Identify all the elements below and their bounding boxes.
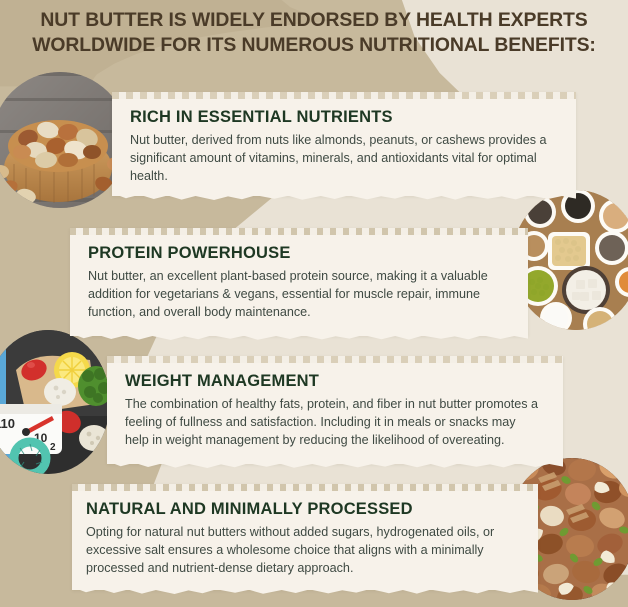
- page-title: NUT BUTTER IS WIDELY ENDORSED BY HEALTH …: [10, 8, 618, 58]
- page-header: NUT BUTTER IS WIDELY ENDORSED BY HEALTH …: [0, 8, 628, 58]
- card-description: The combination of healthy fats, protein…: [125, 396, 541, 450]
- card-content: NATURAL AND MINIMALLY PROCESSED Opting f…: [72, 484, 538, 592]
- card-description: Opting for natural nut butters without a…: [86, 524, 516, 578]
- bowls-of-legumes-and-seeds-photo: [512, 190, 628, 330]
- card-title: RICH IN ESSENTIAL NUTRIENTS: [130, 108, 554, 126]
- card-description: Nut butter, an excellent plant-based pro…: [88, 268, 506, 322]
- card-title: WEIGHT MANAGEMENT: [125, 372, 541, 390]
- benefit-card-weight-management: WEIGHT MANAGEMENT The combination of hea…: [107, 356, 563, 464]
- card-content: RICH IN ESSENTIAL NUTRIENTS Nut butter, …: [112, 92, 576, 200]
- bowls-of-legumes-and-seeds-image: [512, 190, 628, 330]
- svg-text:2: 2: [50, 442, 56, 453]
- benefit-card-rich-in-essential-nutrients: RICH IN ESSENTIAL NUTRIENTS Nut butter, …: [112, 92, 576, 196]
- benefit-card-protein-powerhouse: PROTEIN POWERHOUSE Nut butter, an excell…: [70, 228, 528, 336]
- benefit-card-natural-and-minimally-processed: NATURAL AND MINIMALLY PROCESSED Opting f…: [72, 484, 538, 590]
- card-title: NATURAL AND MINIMALLY PROCESSED: [86, 500, 516, 518]
- card-description: Nut butter, derived from nuts like almon…: [130, 132, 554, 186]
- card-content: PROTEIN POWERHOUSE Nut butter, an excell…: [70, 228, 528, 336]
- card-content: WEIGHT MANAGEMENT The combination of hea…: [107, 356, 563, 464]
- card-title: PROTEIN POWERHOUSE: [88, 244, 506, 262]
- svg-text:110: 110: [0, 416, 15, 431]
